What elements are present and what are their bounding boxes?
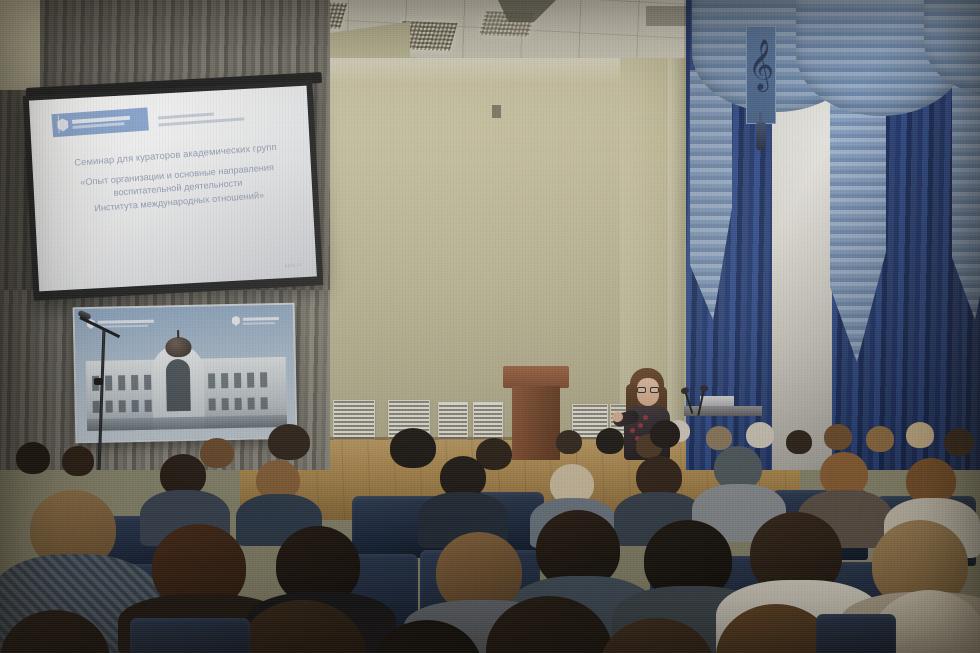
slide-logo-text	[72, 116, 130, 129]
glasses-icon	[637, 387, 659, 393]
projected-slide: Семинар для кураторов академических груп…	[29, 86, 317, 292]
audience-head	[200, 438, 234, 468]
audience-head	[650, 420, 680, 448]
audience-head	[556, 430, 582, 454]
curtain-tassel-icon	[756, 122, 766, 150]
treble-clef-icon: 𝄞	[748, 36, 774, 98]
banner-logo-english	[232, 315, 279, 326]
audience-head	[62, 446, 94, 476]
building-window-row	[208, 372, 267, 388]
slide-subheader-lines	[158, 110, 253, 131]
corner-wall-sliver	[0, 0, 40, 90]
audience-head	[390, 428, 436, 468]
university-crest-icon	[232, 316, 240, 326]
auditorium-seat	[816, 614, 896, 653]
wall-device-icon	[492, 105, 501, 118]
auditorium-seat	[130, 618, 250, 653]
lectern-top	[503, 366, 569, 388]
audience-head	[944, 428, 974, 456]
slide-footer-url: kpfu.ru	[285, 262, 302, 268]
audience-head	[596, 428, 624, 454]
slide-text-block: Семинар для кураторов академических груп…	[41, 138, 313, 219]
audience-head	[706, 426, 732, 450]
audience-head	[824, 424, 852, 450]
audience-head	[268, 424, 310, 460]
audience-head	[786, 430, 812, 454]
audience-head	[746, 422, 774, 448]
slide-university-logo	[52, 107, 149, 137]
seated-audience	[0, 404, 980, 653]
audience-head	[16, 442, 50, 474]
audience-head	[906, 422, 934, 448]
conference-hall-photo: Семинар для кураторов академических груп…	[0, 0, 980, 653]
slide-quote: «Опыт организации и основные направления…	[43, 158, 313, 219]
projection-screen[interactable]: Семинар для кураторов академических груп…	[23, 80, 324, 300]
microphone-stand-clamp	[94, 378, 103, 385]
building-dome	[165, 337, 191, 358]
audience-head	[866, 426, 894, 452]
